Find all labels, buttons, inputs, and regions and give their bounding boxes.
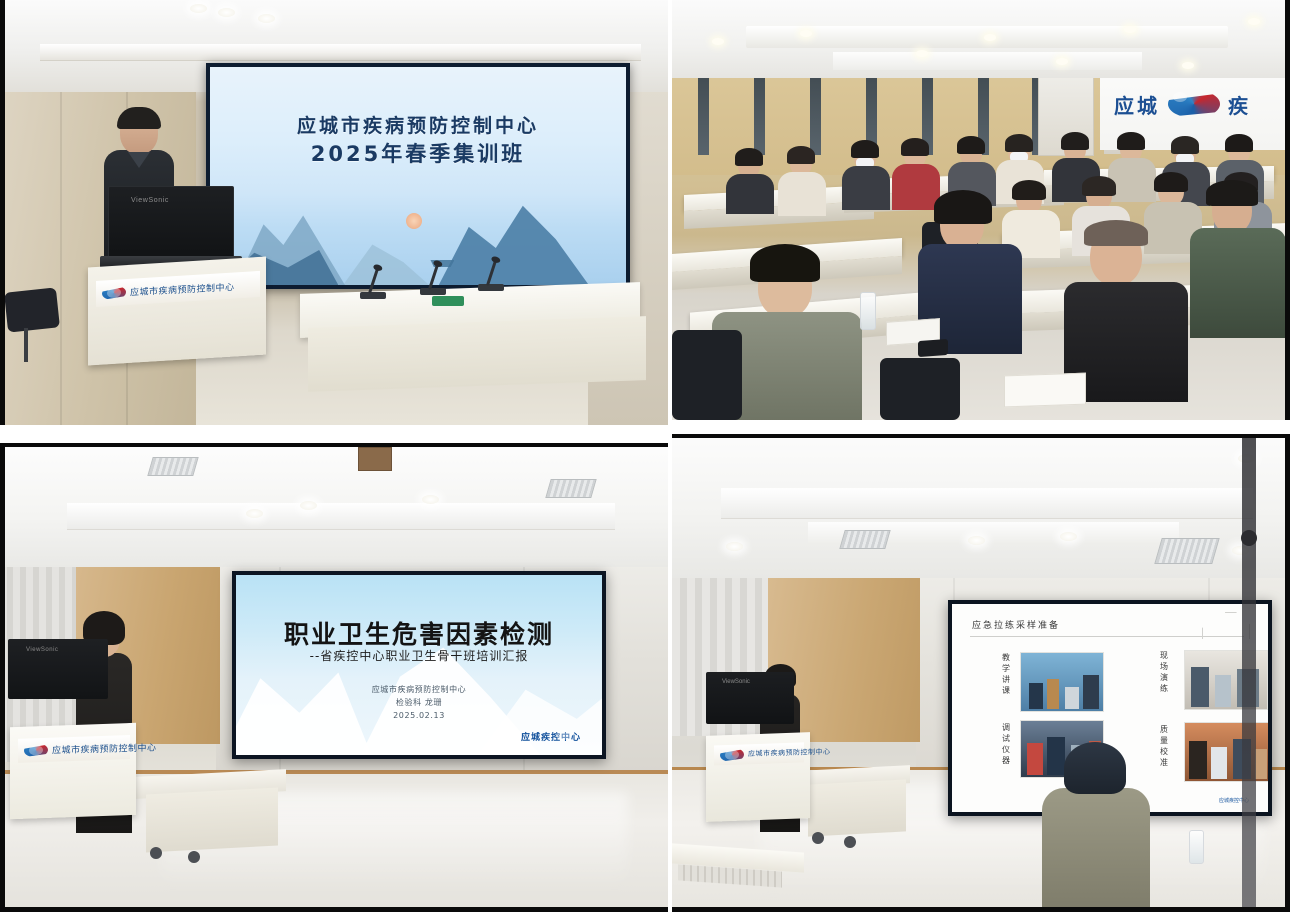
projection-screen: 职业卫生危害因素检测 --省疾控中心职业卫生骨干班培训汇报 应城市疾病预防控制中… xyxy=(232,571,606,759)
ceiling-light-icon xyxy=(300,501,317,510)
attendee-person xyxy=(1042,742,1150,912)
attendee-hair xyxy=(1206,180,1258,206)
photo-panel-bottom-left[interactable]: 职业卫生危害因素检测 --省疾控中心职业卫生骨干班培训汇报 应城市疾病预防控制中… xyxy=(0,443,668,912)
attendee-hair xyxy=(735,148,763,166)
attendee-body xyxy=(726,174,774,214)
slide-subtitle: --省疾控中心职业卫生骨干班培训汇报 xyxy=(236,647,602,664)
attendee-body xyxy=(842,166,890,210)
chair-back xyxy=(672,330,742,420)
photo-panel-top-right[interactable]: 应城 疾 xyxy=(672,0,1290,420)
frame-edge-bottom xyxy=(672,907,1290,912)
microphone-base xyxy=(360,292,386,299)
podium: 应城市疾病预防控制中心 xyxy=(88,257,266,366)
ceiling-light-icon xyxy=(1060,532,1077,541)
ceiling-tray xyxy=(67,503,615,530)
cdc-logo-icon xyxy=(720,747,744,762)
ceiling-tray xyxy=(721,488,1252,519)
photo-top-left-image: 应城市疾病预防控制中心 2025年春季集训班 xyxy=(0,0,668,425)
conference-table-skirt xyxy=(308,316,646,392)
monitor: ViewSonic xyxy=(8,639,108,699)
monitor-brand-label: ViewSonic xyxy=(722,679,750,685)
monitor: ViewSonic xyxy=(706,672,794,724)
attendee-hair xyxy=(1061,132,1089,150)
attendee-body xyxy=(1190,228,1286,338)
desk-caster xyxy=(812,832,824,844)
slide-logo: 应城疾控中心 xyxy=(514,728,588,743)
photo-top-right-image: 应城 疾 xyxy=(672,0,1290,420)
desk-caster xyxy=(188,851,200,863)
ceiling xyxy=(0,443,668,567)
attendee-hair xyxy=(750,244,820,282)
mobile-desk-skirt xyxy=(146,788,278,853)
ceiling-light-icon xyxy=(190,4,207,13)
attendee-hair xyxy=(934,190,992,224)
frame-edge-right xyxy=(1285,0,1290,420)
ceiling-light-icon xyxy=(258,14,275,23)
water-bottle xyxy=(860,292,876,330)
photo-bottom-right-image: 应急拉练采样准备 xyxy=(672,434,1290,912)
frame-edge-left xyxy=(0,0,5,425)
banner-text-right: 疾 xyxy=(1228,90,1251,119)
ceiling-light-icon xyxy=(246,509,263,518)
downlight-icon xyxy=(1124,26,1136,33)
slide-meta: 应城市疾病预防控制中心 检验科 龙珊 2025.02.13 xyxy=(236,683,602,722)
downlight-icon xyxy=(712,38,724,45)
led-slide: 应城市疾病预防控制中心 2025年春季集训班 xyxy=(210,67,626,285)
slide-title: 应急拉练采样准备 xyxy=(972,618,1060,631)
led-slide-title: 应城市疾病预防控制中心 2025年春季集训班 xyxy=(210,113,626,169)
downlight-icon xyxy=(1248,18,1260,25)
smartphone xyxy=(918,339,948,357)
downlight-icon xyxy=(800,30,812,37)
cdc-logo-icon xyxy=(102,285,126,300)
microphone-base xyxy=(420,288,446,295)
ceiling-light-icon xyxy=(422,495,439,504)
desk-caster xyxy=(150,847,162,859)
podium-nameplate: 应城市疾病预防控制中心 xyxy=(714,742,804,765)
led-screen: 应城市疾病预防控制中心 2025年春季集训班 xyxy=(206,63,630,289)
photo-panel-bottom-right[interactable]: 应急拉练采样准备 xyxy=(672,434,1290,912)
attendee-body xyxy=(892,164,940,210)
podium-nameplate: 应城市疾病预防控制中心 xyxy=(96,271,260,307)
frame-edge-top xyxy=(0,443,668,447)
banner-text-left: 应城 xyxy=(1114,90,1160,119)
attendee-hair xyxy=(1225,134,1253,152)
attendee-hair xyxy=(1171,136,1199,154)
led-slide-line2: 2025年春季集训班 xyxy=(210,139,626,169)
desk-device xyxy=(432,296,464,306)
podium: 应城市疾病预防控制中心 xyxy=(10,723,136,819)
chair xyxy=(6,290,64,362)
slide-photo xyxy=(1020,652,1104,712)
attendee-hair xyxy=(957,136,985,154)
air-vent-icon xyxy=(1154,538,1219,564)
monitor-brand-label: ViewSonic xyxy=(26,647,58,653)
frame-edge-left xyxy=(0,443,5,912)
sun-icon xyxy=(406,213,422,229)
ceiling-beam xyxy=(833,52,1142,70)
ink-mountain-graphic xyxy=(210,189,626,285)
attendee-hair xyxy=(901,138,929,156)
cdc-logo-icon xyxy=(1168,90,1220,118)
room-pillar xyxy=(1242,434,1256,912)
laptop-brand-label: ViewSonic xyxy=(131,197,169,204)
led-slide-line1: 应城市疾病预防控制中心 xyxy=(210,113,626,139)
downlight-icon xyxy=(984,34,996,41)
slide-title: 职业卫生危害因素检测 xyxy=(236,615,602,651)
photo-bottom-left-image: 职业卫生危害因素检测 --省疾控中心职业卫生骨干班培训汇报 应城市疾病预防控制中… xyxy=(0,443,668,912)
slide-logo-text: 应城疾控中心 xyxy=(514,730,588,743)
ceiling-light-icon xyxy=(968,536,985,545)
frame-edge-bottom xyxy=(0,907,668,912)
podium-label: 应城市疾病预防控制中心 xyxy=(130,279,235,297)
air-vent-icon xyxy=(839,530,890,549)
slide-department: 检验科 龙珊 xyxy=(236,696,602,709)
attendee-hair xyxy=(851,140,879,158)
ceiling-light-icon xyxy=(726,542,743,551)
air-vent-icon xyxy=(545,479,596,498)
attendee-body xyxy=(778,172,826,216)
slide-photo-label: 现场演练 xyxy=(1158,650,1170,694)
slide-org: 应城市疾病预防控制中心 xyxy=(236,683,602,696)
cdc-logo-icon xyxy=(24,743,48,758)
slide-photo-label: 调试仪器 xyxy=(1000,722,1012,766)
attendee-hair xyxy=(1005,134,1033,152)
attendee-hair xyxy=(1084,220,1148,246)
projection-slide: 职业卫生危害因素检测 --省疾控中心职业卫生骨干班培训汇报 应城市疾病预防控制中… xyxy=(236,575,602,755)
microphone-base xyxy=(478,284,504,291)
attendee-hair xyxy=(1012,180,1046,200)
wall-picture xyxy=(358,447,392,471)
photo-panel-top-left[interactable]: 应城市疾病预防控制中心 2025年春季集训班 xyxy=(0,0,668,425)
desk-caster xyxy=(844,836,856,848)
slide-date: 2025.02.13 xyxy=(236,709,602,722)
mobile-desk-skirt xyxy=(808,779,906,836)
attendee-hair xyxy=(787,146,815,164)
photo-collage: 应城市疾病预防控制中心 2025年春季集训班 xyxy=(0,0,1290,912)
podium-label: 应城市疾病预防控制中心 xyxy=(52,740,157,756)
attendee-hair xyxy=(1154,172,1188,192)
notebook xyxy=(1004,373,1086,408)
ceiling-light-icon xyxy=(218,8,235,17)
downlight-icon xyxy=(916,50,928,57)
attendee-hair xyxy=(1082,176,1116,196)
chair-back xyxy=(880,358,960,420)
slide-photo-label: 质量校准 xyxy=(1158,724,1170,768)
ceiling xyxy=(672,0,1290,78)
podium-nameplate: 应城市疾病预防控制中心 xyxy=(18,735,130,763)
frame-edge-top xyxy=(672,434,1290,438)
air-vent-icon xyxy=(147,457,198,476)
attendee-body xyxy=(1108,158,1156,202)
slide-photo-label: 教学讲课 xyxy=(1000,652,1012,696)
attendee-hair xyxy=(1117,132,1145,150)
downlight-icon xyxy=(1056,58,1068,65)
podium: 应城市疾病预防控制中心 xyxy=(706,732,810,822)
frame-edge-right xyxy=(1285,434,1290,912)
downlight-icon xyxy=(1182,62,1194,69)
water-bottle xyxy=(1189,830,1204,864)
laptop: ViewSonic xyxy=(108,186,234,260)
